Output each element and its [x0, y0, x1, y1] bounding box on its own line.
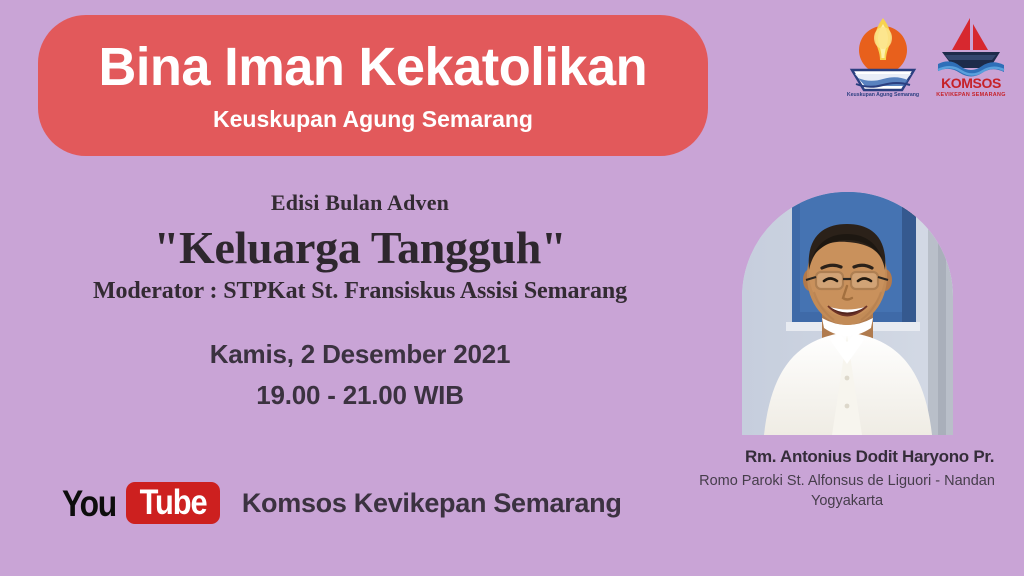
speaker-name: Rm. Antonius Dodit Haryono Pr.: [745, 447, 956, 467]
header-subtitle: Keuskupan Agung Semarang: [213, 107, 533, 132]
speaker-photo: [742, 192, 953, 435]
youtube-logo-tube: Tube: [139, 485, 206, 520]
youtube-channel-row[interactable]: You Tube Komsos Kevikepan Semarang: [62, 481, 622, 525]
page-title: Bina Iman Kekatolikan: [99, 39, 648, 96]
svg-text:KOMSOS: KOMSOS: [941, 75, 1001, 91]
header-banner: Bina Iman Kekatolikan Keuskupan Agung Se…: [38, 15, 708, 156]
speaker-role-line-2: Yogyakarta: [682, 492, 1012, 512]
speaker-role-line-1: Romo Paroki St. Alfonsus de Liguori - Na…: [682, 472, 1012, 492]
edition-label: Edisi Bulan Adven: [30, 190, 690, 216]
youtube-icon[interactable]: You Tube: [62, 481, 220, 525]
event-details: Edisi Bulan Adven "Keluarga Tangguh" Mod…: [30, 190, 690, 411]
speaker-role: Romo Paroki St. Alfonsus de Liguori - Na…: [682, 472, 1012, 511]
event-poster: Bina Iman Kekatolikan Keuskupan Agung Se…: [0, 0, 1024, 576]
svg-text:KEVIKEPAN SEMARANG: KEVIKEPAN SEMARANG: [936, 92, 1005, 98]
komsos-logo: KOMSOS KEVIKEPAN SEMARANG: [932, 14, 1010, 100]
keuskupan-agung-semarang-logo: Keuskupan Agung Semarang: [844, 14, 922, 100]
svg-text:Keuskupan Agung Semarang: Keuskupan Agung Semarang: [847, 92, 919, 98]
event-date: Kamis, 2 Desember 2021: [30, 339, 690, 370]
theme-title: "Keluarga Tangguh": [30, 222, 690, 274]
speaker-block: Rm. Antonius Dodit Haryono Pr. Romo Paro…: [742, 192, 953, 511]
youtube-logo-you: You: [62, 485, 116, 522]
moderator-label: Moderator : STPKat St. Fransiskus Assisi…: [30, 278, 690, 305]
youtube-logo-badge: Tube: [126, 482, 220, 524]
youtube-channel-name: Komsos Kevikepan Semarang: [242, 488, 622, 519]
logo-group: Keuskupan Agung Semarang KOMSOS KEVIKEPA…: [844, 14, 1010, 100]
event-time: 19.00 - 21.00 WIB: [30, 380, 690, 411]
